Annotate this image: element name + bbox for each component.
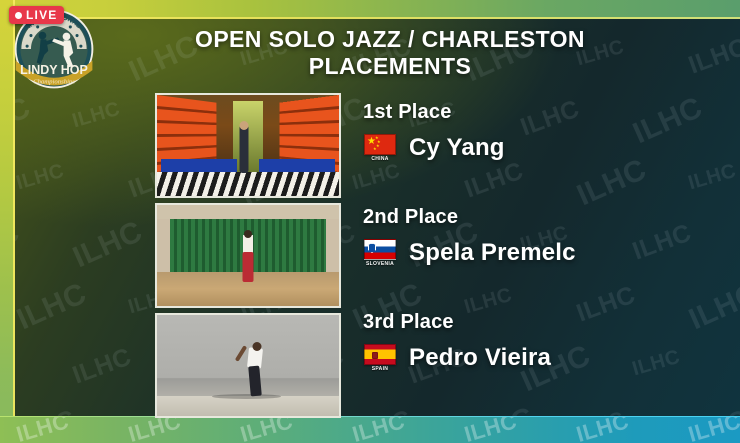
- placement-2-flag-wrap: SLOVENIA: [363, 239, 397, 267]
- placement-2-rank: 2nd Place: [363, 203, 713, 227]
- placement-2-country: SLOVENIA: [366, 261, 394, 267]
- live-badge: LIVE: [9, 6, 64, 24]
- placement-3: 3rd Place SPAIN Pedro Vieira: [363, 308, 713, 413]
- live-label: LIVE: [26, 9, 57, 21]
- slide-title: OPEN SOLO JAZZ / CHARLESTON PLACEMENTS: [150, 26, 630, 80]
- placement-3-rank: 3rd Place: [363, 308, 713, 332]
- watermark-text: ILHC: [237, 417, 295, 443]
- svg-text:Championships: Championships: [33, 79, 75, 86]
- placement-3-country: SPAIN: [372, 366, 388, 372]
- watermark-text: ILHC: [125, 417, 183, 443]
- video1-dancer-head: [240, 121, 249, 130]
- video1-striped-floor: [157, 172, 339, 196]
- china-flag-icon: ★★★★★: [364, 134, 396, 155]
- watermark-text: ILHC: [685, 33, 740, 81]
- watermark-text: ILHC: [13, 417, 71, 443]
- watermark-text: ILHC: [573, 417, 631, 443]
- placement-3-flag-wrap: SPAIN: [363, 344, 397, 372]
- placement-1: 1st Place ★★★★★ CHINA Cy Yang: [363, 98, 713, 203]
- slide-title-line1: OPEN SOLO JAZZ / CHARLESTON: [150, 26, 630, 53]
- watermark-text: ILHC: [70, 98, 123, 134]
- slovenia-flag-icon: [364, 239, 396, 260]
- bottom-color-band: ILHCILHCILHCILHCILHCILHCILHCILHC: [0, 417, 740, 443]
- placement-2: 2nd Place SLOVENIA Spela Premelc: [363, 203, 713, 308]
- watermark-text: ILHC: [14, 160, 67, 196]
- watermark-text: ILHC: [12, 277, 92, 337]
- video2-dancer-legs: [243, 252, 254, 282]
- video-thumbnail-2[interactable]: [155, 203, 341, 308]
- placement-1-winner: Cy Yang: [409, 136, 505, 160]
- video2-dancer-head: [244, 230, 252, 238]
- spain-flag-icon: [364, 344, 396, 365]
- svg-text:LINDY HOP: LINDY HOP: [20, 63, 88, 77]
- placement-3-winner: Pedro Vieira: [409, 346, 551, 370]
- video3-dancer-head: [253, 342, 262, 351]
- placement-3-row: SPAIN Pedro Vieira: [363, 344, 713, 372]
- video-thumbnail-list: [155, 93, 341, 418]
- top-accent-line: [0, 17, 740, 19]
- live-dot-icon: [15, 12, 22, 19]
- video1-right-blue-base: [259, 159, 335, 172]
- placements-list: 1st Place ★★★★★ CHINA Cy Yang 2nd Place: [363, 98, 713, 413]
- watermark-text: ILHC: [68, 215, 148, 275]
- video2-ceiling: [157, 205, 339, 219]
- broadcast-slide: ILHCILHCILHCILHCILHCILHCILHCILHCILHCILHC…: [0, 0, 740, 443]
- placement-1-flag-wrap: ★★★★★ CHINA: [363, 134, 397, 162]
- top-color-band: [0, 0, 740, 18]
- slide-title-line2: PLACEMENTS: [150, 53, 630, 80]
- placement-1-country: CHINA: [371, 156, 388, 162]
- watermark-text: ILHC: [349, 417, 407, 443]
- video-thumbnail-1[interactable]: [155, 93, 341, 198]
- watermark-text: ILHC: [69, 343, 136, 391]
- watermark-text: ILHC: [461, 417, 519, 443]
- placement-1-row: ★★★★★ CHINA Cy Yang: [363, 134, 713, 162]
- watermark-text: ILHC: [685, 417, 740, 443]
- video1-dancer-body: [240, 125, 249, 173]
- video3-shadow: [212, 394, 281, 399]
- video-thumbnail-3[interactable]: [155, 313, 341, 418]
- video1-left-blue-base: [161, 159, 237, 172]
- placement-2-row: SLOVENIA Spela Premelc: [363, 239, 713, 267]
- placement-2-winner: Spela Premelc: [409, 241, 576, 265]
- placement-1-rank: 1st Place: [363, 98, 713, 122]
